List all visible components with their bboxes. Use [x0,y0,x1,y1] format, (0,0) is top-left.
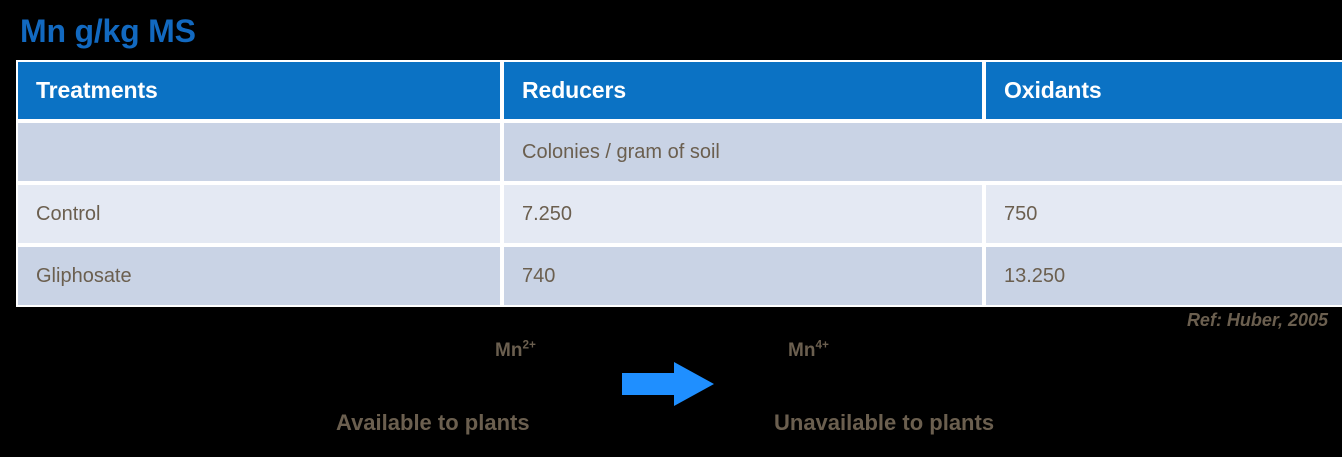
column-header-treatments: Treatments [16,60,502,121]
mn-data-table: Treatments Reducers Oxidants Colonies / … [16,60,1342,307]
ion-charge: 2+ [522,339,535,352]
column-header-oxidants: Oxidants [984,60,1342,121]
ion-label-mn2plus: Mn2+ [495,340,536,362]
cell-reducers: 740 [502,245,984,307]
ion-symbol: Mn [495,340,522,361]
table-header: Treatments Reducers Oxidants [16,60,1342,121]
ion-charge: 4+ [815,339,828,352]
right-arrow-icon [622,362,714,406]
source-reference: Ref: Huber, 2005 [1187,310,1328,331]
cell-oxidants: 750 [984,183,1342,245]
table-body: Colonies / gram of soil Control 7.250 75… [16,121,1342,307]
table-header-row: Treatments Reducers Oxidants [16,60,1342,121]
table-row: Control 7.250 750 [16,183,1342,245]
column-header-reducers: Reducers [502,60,984,121]
table-row-units: Colonies / gram of soil [16,121,1342,183]
cell-reducers: 7.250 [502,183,984,245]
caption-available-to-plants: Available to plants [336,410,530,436]
ion-label-mn4plus: Mn4+ [788,340,829,362]
units-row-value: Colonies / gram of soil [502,121,1342,183]
cell-treatment: Control [16,183,502,245]
page-title: Mn g/kg MS [20,11,196,51]
cell-treatment: Gliphosate [16,245,502,307]
cell-oxidants: 13.250 [984,245,1342,307]
ion-symbol: Mn [788,340,815,361]
table-row: Gliphosate 740 13.250 [16,245,1342,307]
caption-unavailable-to-plants: Unavailable to plants [774,410,994,436]
units-row-empty-cell [16,121,502,183]
